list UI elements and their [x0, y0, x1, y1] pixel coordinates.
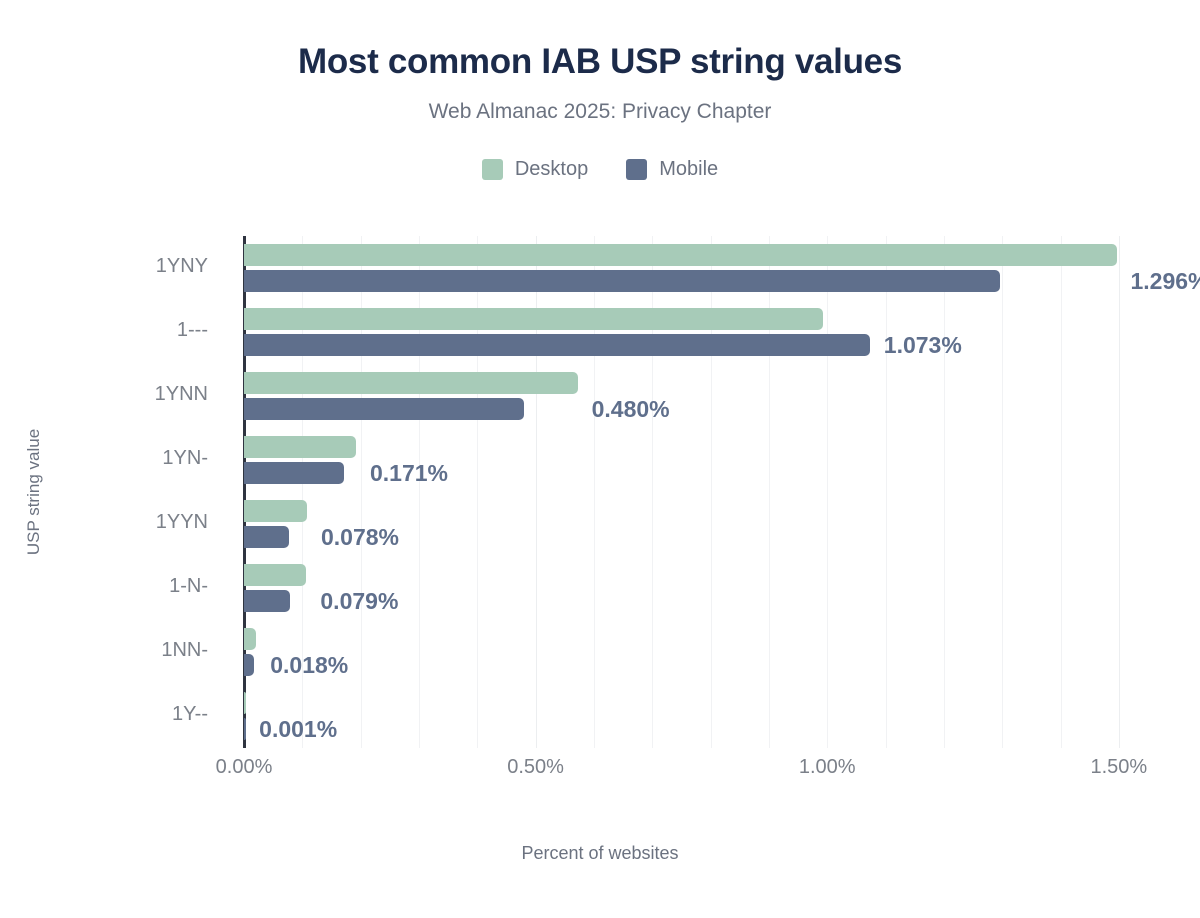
y-tick-label-1YNY: 1YNY — [156, 255, 208, 278]
y-tick-label-1-N-: 1-N- — [169, 575, 208, 598]
bar-value-label-1YYN: 0.078% — [321, 524, 399, 551]
legend-swatch-mobile — [626, 159, 647, 180]
bar-mobile-1-N-[interactable] — [244, 590, 290, 612]
bar-group-1-N-: 0.079% — [244, 564, 1148, 612]
x-tick-label-0.00%: 0.00% — [216, 756, 273, 779]
chart-title: Most common IAB USP string values — [0, 42, 1200, 82]
x-tick-label-1.00%: 1.00% — [799, 756, 856, 779]
bar-desktop-1YNY[interactable] — [244, 244, 1117, 266]
x-axis-title: Percent of websites — [0, 843, 1200, 864]
bar-desktop-1NN-[interactable] — [244, 628, 256, 650]
y-tick-label-1NN-: 1NN- — [161, 639, 208, 662]
bar-value-label-1YN-: 0.171% — [370, 460, 448, 487]
bar-mobile-1---[interactable] — [244, 334, 870, 356]
x-axis-tick-labels: 0.00%0.50%1.00%1.50% — [244, 756, 1148, 786]
bar-group-1YNY: 1.296% — [244, 244, 1148, 292]
y-tick-label-1---: 1--- — [177, 319, 208, 342]
bar-desktop-1YNN[interactable] — [244, 372, 578, 394]
bar-value-label-1YNN: 0.480% — [592, 396, 670, 423]
y-tick-label-1Y--: 1Y-- — [172, 703, 208, 726]
bar-mobile-1Y--[interactable] — [244, 718, 246, 740]
x-tick-label-1.50%: 1.50% — [1090, 756, 1147, 779]
bar-mobile-1YNY[interactable] — [244, 270, 1000, 292]
bar-mobile-1YNN[interactable] — [244, 398, 524, 420]
bar-value-label-1Y--: 0.001% — [259, 716, 337, 743]
plot-area: 1.296%1.073%0.480%0.171%0.078%0.079%0.01… — [244, 236, 1148, 748]
bar-desktop-1---[interactable] — [244, 308, 823, 330]
bar-group-1Y--: 0.001% — [244, 692, 1148, 740]
legend-label-desktop: Desktop — [515, 158, 588, 181]
bar-value-label-1---: 1.073% — [884, 332, 962, 359]
y-tick-label-1YNN: 1YNN — [155, 383, 208, 406]
chart-legend: DesktopMobile — [0, 158, 1200, 181]
chart-page: Most common IAB USP string values Web Al… — [0, 0, 1200, 918]
bar-value-label-1NN-: 0.018% — [270, 652, 348, 679]
bar-mobile-1YN-[interactable] — [244, 462, 344, 484]
legend-label-mobile: Mobile — [659, 158, 718, 181]
bar-group-1---: 1.073% — [244, 308, 1148, 356]
bar-value-label-1-N-: 0.079% — [320, 588, 398, 615]
bar-mobile-1NN-[interactable] — [244, 654, 254, 676]
legend-item-desktop[interactable]: Desktop — [482, 158, 588, 181]
legend-item-mobile[interactable]: Mobile — [626, 158, 718, 181]
x-tick-label-0.50%: 0.50% — [507, 756, 564, 779]
y-tick-label-1YYN: 1YYN — [156, 511, 208, 534]
bar-group-1YNN: 0.480% — [244, 372, 1148, 420]
legend-swatch-desktop — [482, 159, 503, 180]
bar-desktop-1YYN[interactable] — [244, 500, 307, 522]
bar-desktop-1-N-[interactable] — [244, 564, 306, 586]
bar-group-1NN-: 0.018% — [244, 628, 1148, 676]
bar-rows: 1.296%1.073%0.480%0.171%0.078%0.079%0.01… — [244, 236, 1148, 748]
chart-subtitle: Web Almanac 2025: Privacy Chapter — [0, 100, 1200, 124]
bar-desktop-1Y--[interactable] — [244, 692, 246, 714]
y-axis-title: USP string value — [24, 429, 44, 555]
bar-value-label-1YNY: 1.296% — [1131, 268, 1200, 295]
bar-desktop-1YN-[interactable] — [244, 436, 356, 458]
bar-mobile-1YYN[interactable] — [244, 526, 289, 548]
y-tick-label-1YN-: 1YN- — [162, 447, 208, 470]
bar-group-1YN-: 0.171% — [244, 436, 1148, 484]
bar-group-1YYN: 0.078% — [244, 500, 1148, 548]
